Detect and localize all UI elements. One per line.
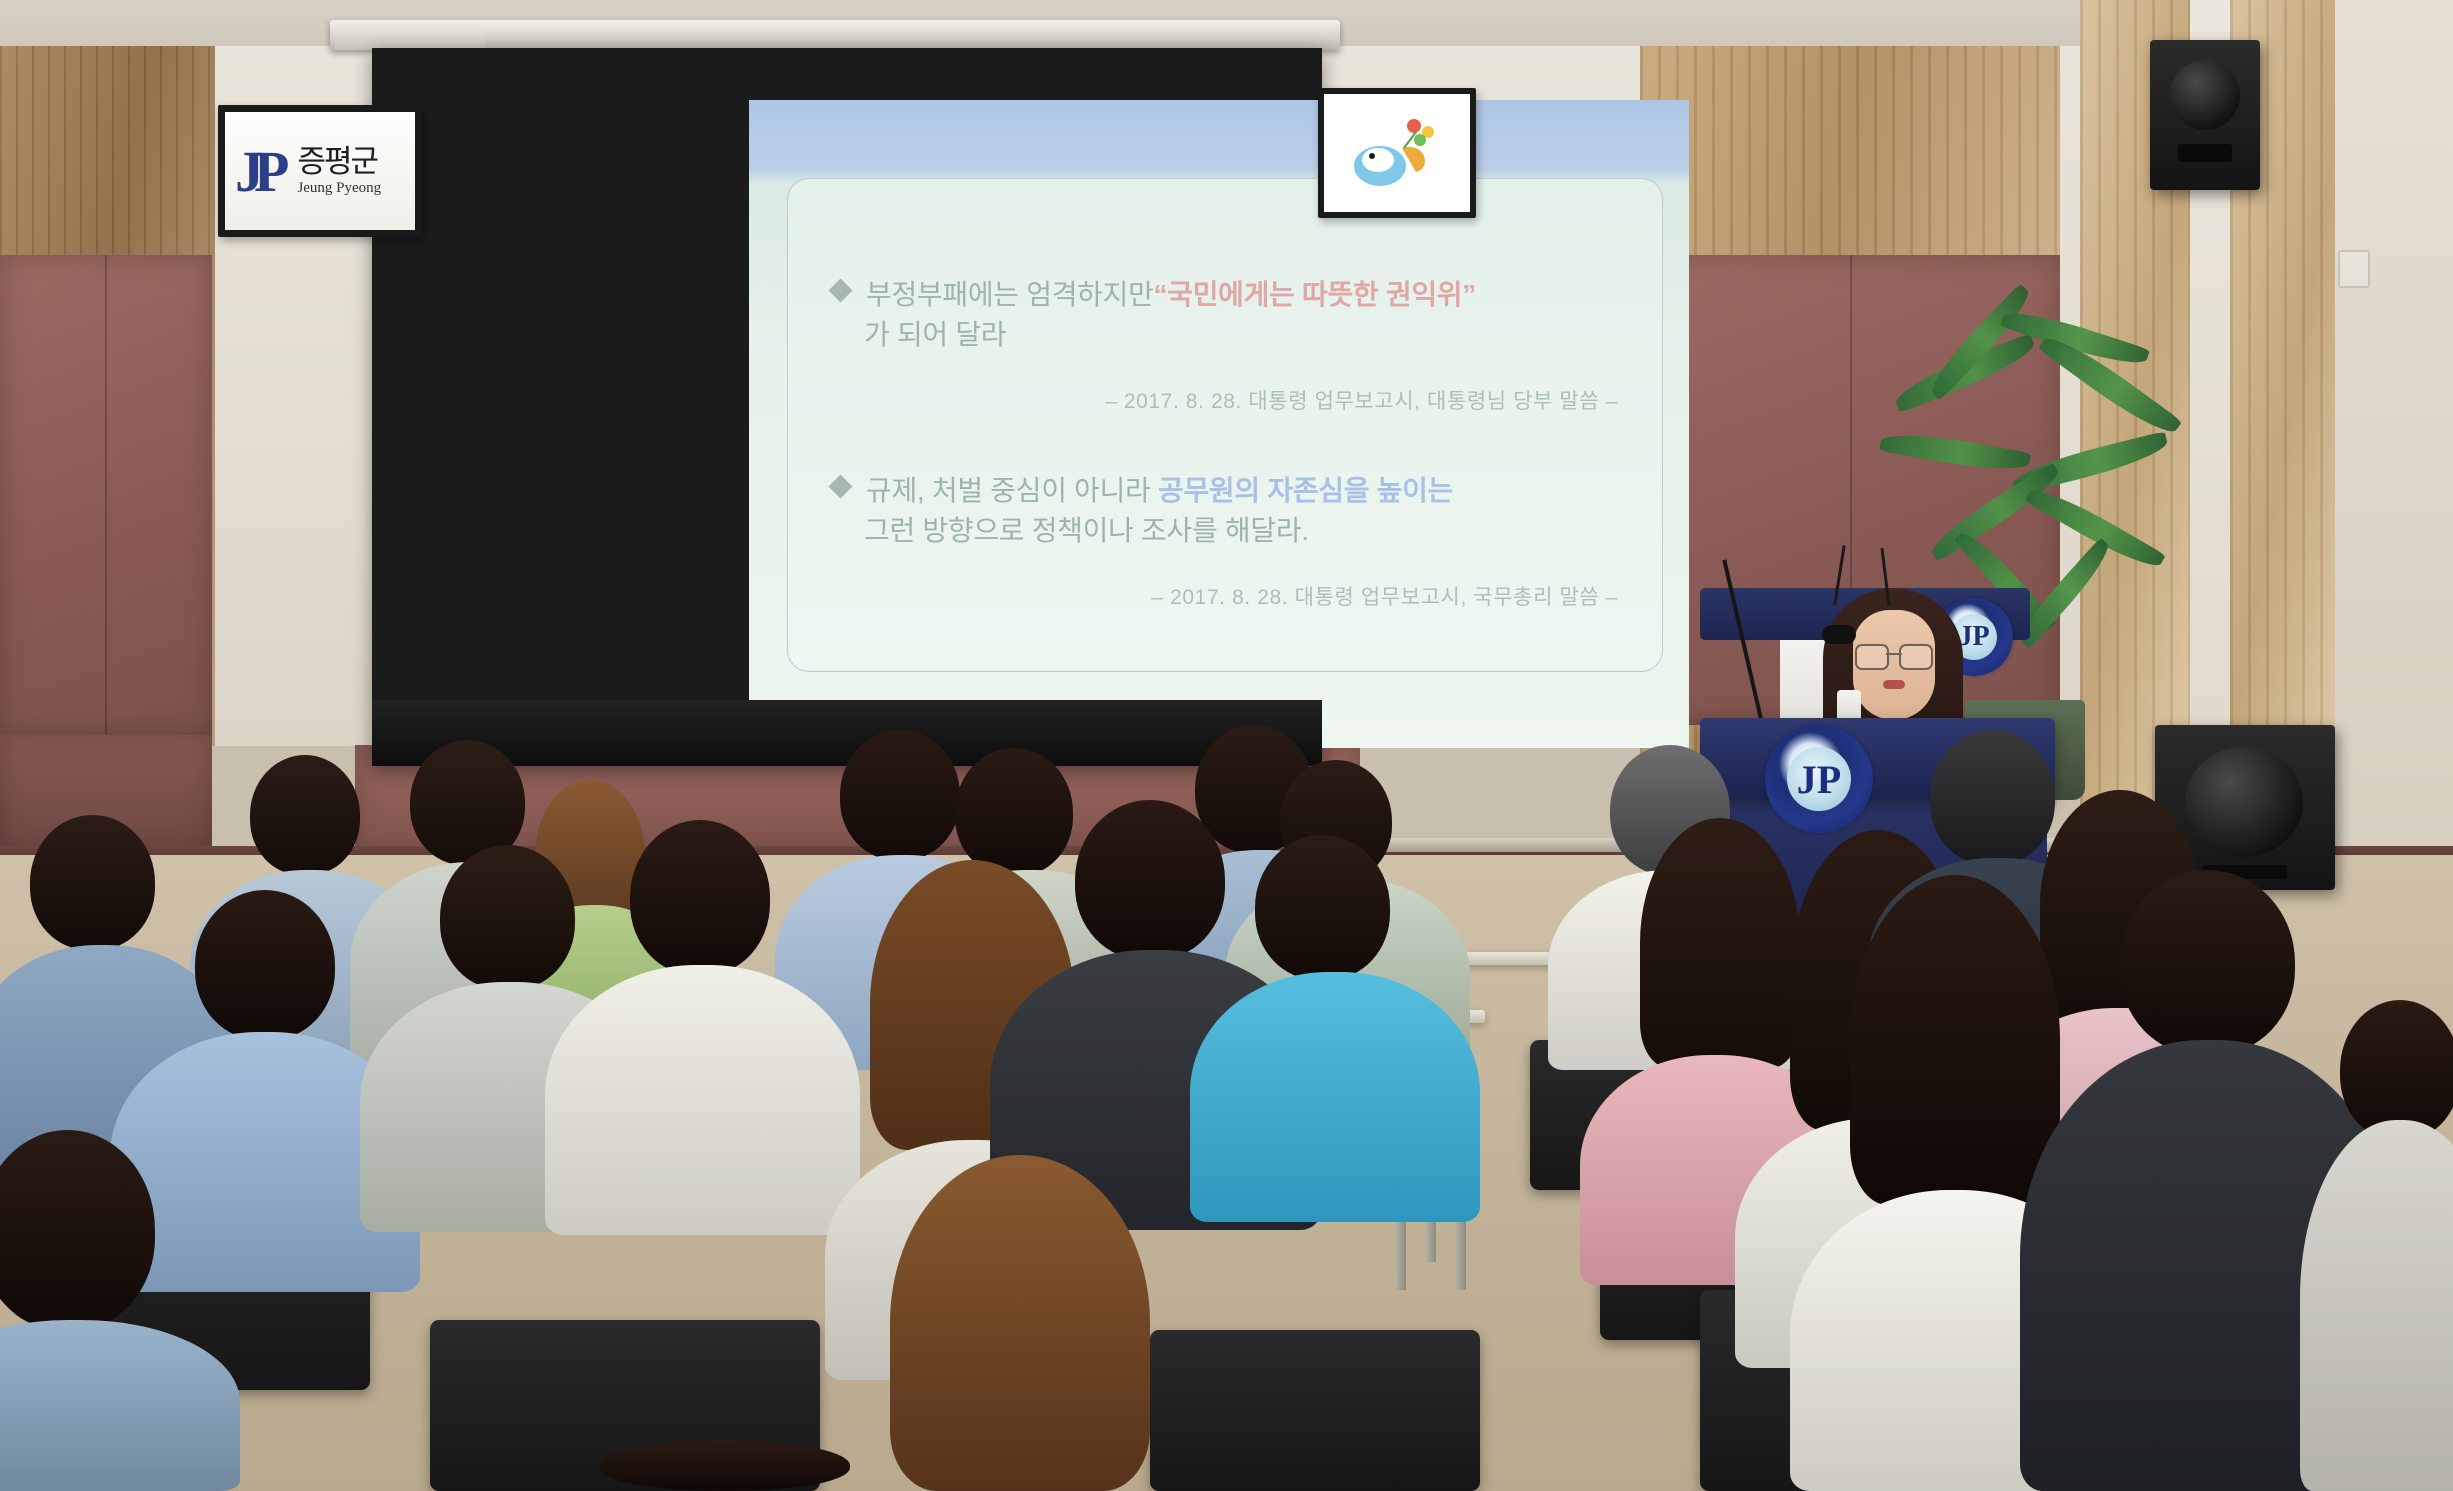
sign-left-roman-name: Jeung Pyeong <box>297 181 381 196</box>
sign-left-korean-name: 증평군 <box>297 146 381 177</box>
bullet-2-citation: – 2017. 8. 28. 대통령 업무보고시, 국무총리 말씀 – <box>1151 581 1618 611</box>
bullet-2-text: 규제, 처벌 중심이 아니라 공무원의 자존심을 높이는 그런 방향으로 정책이… <box>866 471 1644 551</box>
bullet-1-line2: 가 되어 달라 <box>864 315 1644 355</box>
slide-bullet-2: 규제, 처벌 중심이 아니라 공무원의 자존심을 높이는 그런 방향으로 정책이… <box>832 471 1644 551</box>
screen-bottom-weight-bar <box>372 700 1322 766</box>
presenter-glasses-icon <box>1853 644 1935 666</box>
bullet-1-text: 부정부패에는 엄격하지만“국민에게는 따뜻한 권익위” 가 되어 달라 <box>866 275 1644 355</box>
slide-header-band <box>749 100 1689 170</box>
sign-left-names: 증평군 Jeung Pyeong <box>297 146 381 196</box>
wall-speaker-top-right <box>2150 40 2260 190</box>
projection-screen: 부정부패에는 엄격하지만“국민에게는 따뜻한 권익위” 가 되어 달라 – 20… <box>372 48 1322 766</box>
wall-outlet <box>2338 250 2370 288</box>
slide-content: 부정부패에는 엄격하지만“국민에게는 따뜻한 권익위” 가 되어 달라 – 20… <box>749 100 1689 748</box>
county-emblem-icon: JP <box>1765 725 1873 833</box>
bullet-2-line2: 그런 방향으로 정책이나 조사를 해달라. <box>864 511 1644 551</box>
bullet-2-line1-highlight: 공무원의 자존심을 높이는 <box>1158 475 1453 506</box>
slide-body-frame: 부정부패에는 엄격하지만“국민에게는 따뜻한 권익위” 가 되어 달라 – 20… <box>787 178 1663 672</box>
bullet-1-line1-highlight: “국민에게는 따뜻한 권익위” <box>1154 279 1476 310</box>
podium-mic-head <box>1822 625 1856 644</box>
emblem-jp-text: JP <box>1787 747 1852 812</box>
bullet-1-line1-plain: 부정부패에는 엄격하지만 <box>866 279 1154 310</box>
presenter-lips <box>1883 680 1905 689</box>
chair-back[interactable] <box>1150 1330 1480 1491</box>
panel-seam <box>105 255 107 735</box>
bullet-2-line1-plain: 규제, 처벌 중심이 아니라 <box>866 475 1158 506</box>
far-right-wall <box>2335 0 2453 900</box>
diamond-bullet-icon <box>828 474 852 498</box>
mascot-icon <box>1344 108 1444 196</box>
screen-bracket <box>335 28 485 50</box>
bullet-1-citation: – 2017. 8. 28. 대통령 업무보고시, 대통령님 당부 말씀 – <box>1105 385 1618 415</box>
county-logo-sign: JP 증평군 Jeung Pyeong <box>218 105 422 237</box>
diamond-bullet-icon <box>828 278 852 302</box>
slide-bullet-1: 부정부패에는 엄격하지만“국민에게는 따뜻한 권익위” 가 되어 달라 <box>832 275 1644 355</box>
mascot-sign <box>1318 88 1476 218</box>
jp-logo-icon: JP <box>235 138 279 205</box>
lecture-hall-photo: 부정부패에는 엄격하지만“국민에게는 따뜻한 권익위” 가 되어 달라 – 20… <box>0 0 2453 1491</box>
